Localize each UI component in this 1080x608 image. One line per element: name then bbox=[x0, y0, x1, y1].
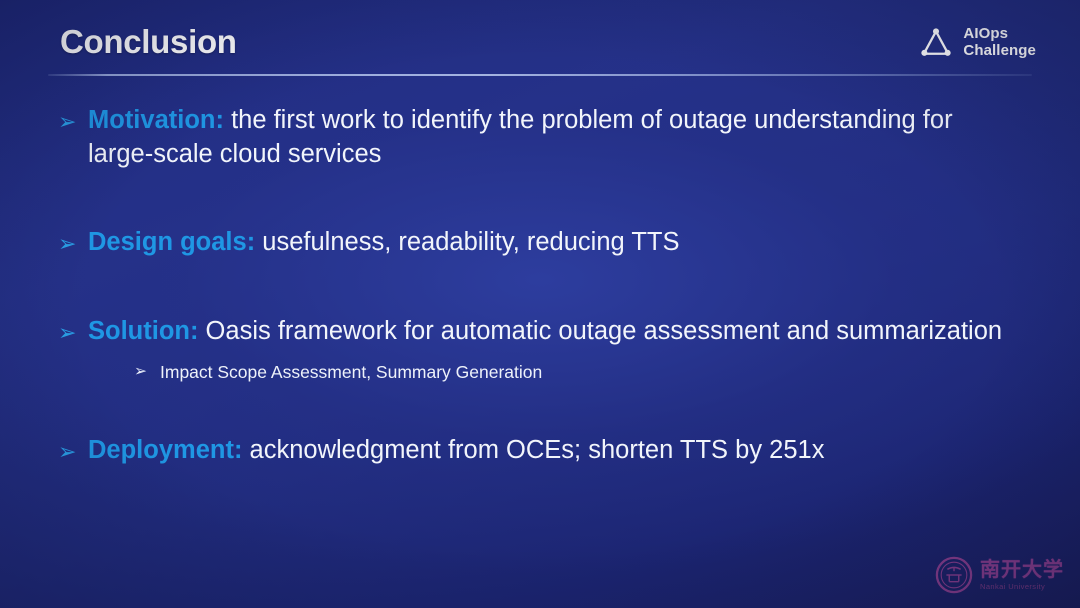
sub-bullet-arrow-icon: ➢ bbox=[134, 361, 160, 383]
spacer bbox=[58, 260, 1018, 315]
presentation-slide: Conclusion AIOps Challenge bbox=[0, 0, 1080, 608]
bullet-arrow-icon: ➢ bbox=[58, 104, 88, 138]
bullet-lead-label: Deployment: bbox=[88, 436, 242, 464]
bullet-text: Solution: Oasis framework for automatic … bbox=[88, 315, 1018, 349]
aiops-logo-line1: AIOps bbox=[963, 25, 1008, 42]
bullet-body-text: usefulness, readability, reducing TTS bbox=[255, 228, 679, 256]
title-underline-divider bbox=[48, 74, 1032, 76]
bullet-body-text: Oasis framework for automatic outage ass… bbox=[198, 317, 1002, 345]
aiops-logo-wordmark: AIOps Challenge bbox=[963, 26, 1036, 60]
bullet-lead-label: Solution: bbox=[88, 317, 198, 345]
bullet-text: Motivation: the first work to identify t… bbox=[88, 104, 1018, 172]
bullet-item-solution: ➢ Solution: Oasis framework for automati… bbox=[58, 315, 1018, 349]
bullet-lead-label: Design goals: bbox=[88, 228, 255, 256]
slide-body: ➢ Motivation: the first work to identify… bbox=[58, 104, 1018, 468]
sub-bullet-item-impact-scope: ➢ Impact Scope Assessment, Summary Gener… bbox=[134, 361, 1018, 384]
spacer bbox=[58, 172, 1018, 226]
nankai-university-logo: 南开大学 Nankai University bbox=[935, 556, 1064, 594]
bullet-text: Deployment: acknowledgment from OCEs; sh… bbox=[88, 434, 1018, 468]
spacer bbox=[58, 384, 1018, 434]
bullet-item-design-goals: ➢ Design goals: usefulness, readability,… bbox=[58, 226, 1018, 260]
bullet-item-motivation: ➢ Motivation: the first work to identify… bbox=[58, 104, 1018, 172]
page-title: Conclusion bbox=[60, 24, 237, 60]
bullet-lead-label: Motivation: bbox=[88, 106, 224, 134]
sub-bullet-text: Impact Scope Assessment, Summary Generat… bbox=[160, 361, 542, 384]
bullet-text: Design goals: usefulness, readability, r… bbox=[88, 226, 1018, 260]
aiops-logo-line2: Challenge bbox=[963, 42, 1036, 59]
nankai-name-english: Nankai University bbox=[980, 583, 1064, 591]
bullet-arrow-icon: ➢ bbox=[58, 434, 88, 468]
bullet-arrow-icon: ➢ bbox=[58, 315, 88, 349]
bullet-item-deployment: ➢ Deployment: acknowledgment from OCEs; … bbox=[58, 434, 1018, 468]
bullet-body-text: acknowledgment from OCEs; shorten TTS by… bbox=[242, 436, 824, 464]
aiops-triangle-network-icon bbox=[918, 26, 954, 60]
nankai-university-seal-icon bbox=[935, 556, 973, 594]
bullet-arrow-icon: ➢ bbox=[58, 226, 88, 260]
nankai-logo-wordmark: 南开大学 Nankai University bbox=[980, 560, 1064, 591]
aiops-challenge-logo: AIOps Challenge bbox=[918, 26, 1036, 60]
nankai-name-chinese: 南开大学 bbox=[980, 560, 1064, 580]
